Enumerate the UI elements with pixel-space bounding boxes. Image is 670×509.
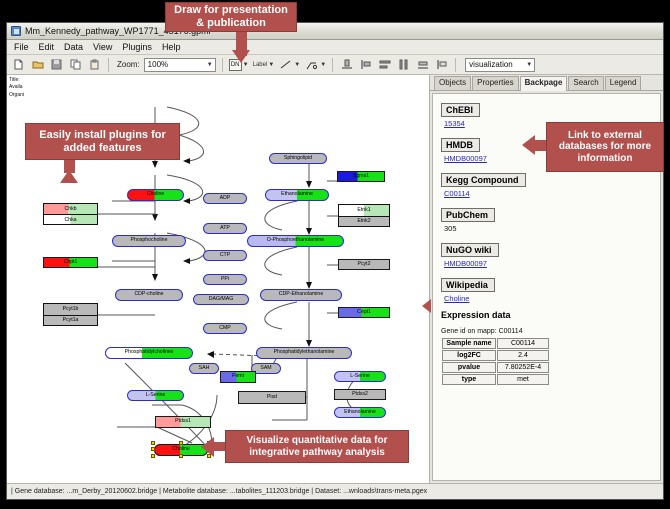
table-row: log2FC 2.4 [442, 350, 549, 361]
line-tool[interactable]: ▼ [278, 57, 300, 72]
db-header-kegg-compound: Kegg Compound [441, 173, 526, 187]
callout-link-arrow [522, 135, 535, 155]
toolbar-separator-2 [222, 58, 223, 72]
expression-table: Sample name C00114 log2FC 2.4 pvalue 7.8… [441, 337, 550, 386]
save-icon[interactable] [49, 57, 64, 72]
pathvisio-app-icon [11, 26, 21, 36]
pathway-canvas[interactable]: Title: Availa Organi [7, 75, 430, 483]
db-value-pubchem: 305 [444, 224, 654, 233]
table-row: Sample name C00114 [442, 338, 549, 349]
expr-value-type: met [497, 374, 549, 385]
callout-link: Link to external databases for more info… [546, 122, 664, 172]
db-link-kegg-compound[interactable]: C00114 [444, 189, 654, 198]
table-row: type met [442, 374, 549, 385]
node-ptdss2[interactable]: Ptdss2 [334, 389, 386, 400]
label-tool[interactable]: Label ▼ [253, 62, 275, 68]
callout-plugins-arrow [60, 170, 78, 183]
chevron-down-icon: ▼ [268, 62, 274, 68]
callout-visualize: Visualize quantitative data for integrat… [225, 430, 409, 463]
callout-draw-arrow [232, 50, 250, 63]
selection-handle-nw[interactable] [151, 441, 155, 445]
expr-value-log2fc: 2.4 [497, 350, 549, 361]
chevron-down-icon: ▼ [320, 62, 326, 68]
node-etnk1[interactable]: Etnk1 [339, 205, 389, 216]
node-sgms1[interactable]: Sgms1 [337, 171, 385, 182]
paste-icon[interactable] [87, 57, 102, 72]
db-link-wikipedia[interactable]: Choline [444, 294, 654, 303]
node-phosphatidylethanolamine[interactable]: Phosphatidylethanolamine [256, 347, 352, 359]
zoom-label: Zoom: [117, 60, 140, 69]
status-bar-text: | Gene database: ...m_Derby_20120602.bri… [11, 488, 427, 495]
menu-item-view[interactable]: View [92, 42, 113, 52]
callout-plugins: Easily install plugins for added feature… [25, 123, 180, 160]
menu-bar: File Edit Data View Plugins Help [7, 40, 663, 55]
distribute-vertical-icon[interactable] [377, 57, 392, 72]
tab-objects[interactable]: Objects [434, 76, 471, 90]
node-ethanolamine-right[interactable]: Ethanolamine [334, 407, 386, 418]
node-sah[interactable]: SAH [189, 363, 219, 374]
status-bar: | Gene database: ...m_Derby_20120602.bri… [7, 483, 663, 499]
menu-item-help[interactable]: Help [161, 42, 182, 52]
db-header-nugo-wiki: NuGO wiki [441, 243, 499, 257]
side-panel-tabs: Objects Properties Backpage Search Legen… [430, 75, 663, 91]
node-stack-etnk[interactable]: Etnk1 Etnk2 [338, 204, 390, 227]
gene-id-on-mapp: Gene id on mapp: C00114 [441, 328, 654, 335]
node-ppi[interactable]: PPi [203, 274, 247, 285]
menu-item-edit[interactable]: Edit [38, 42, 56, 52]
canvas-info-availab: Availa [9, 84, 31, 91]
tool-bar: Zoom: 100% ▼ DN ▼ Label ▼ ▼ [7, 55, 663, 75]
title-bar: Mm_Kennedy_pathway_WP1771_45176.gpml [7, 23, 663, 40]
copy-icon[interactable] [68, 57, 83, 72]
toolbar-separator-3 [332, 58, 333, 72]
node-chkb[interactable]: Chkb [44, 204, 97, 214]
expression-pointer-arrow [422, 299, 431, 313]
expr-value-sample-name: C00114 [497, 338, 549, 349]
db-link-nugo-wiki[interactable]: HMDB00097 [444, 259, 654, 268]
toolbar-separator [108, 58, 109, 72]
chevron-down-icon: ▼ [203, 62, 213, 68]
interaction-tool-icon [304, 57, 319, 72]
node-cdp-choline[interactable]: CDP-choline [115, 289, 183, 301]
node-cmp[interactable]: CMP [203, 323, 247, 334]
tab-backpage[interactable]: Backpage [520, 76, 568, 91]
tab-properties[interactable]: Properties [472, 76, 518, 90]
stack-icon[interactable] [415, 57, 430, 72]
toolbar-separator-4 [455, 58, 456, 72]
canvas-info-labels: Title: Availa Organi [9, 77, 31, 99]
node-chka[interactable]: Chka [44, 214, 97, 224]
order-icon[interactable] [434, 57, 449, 72]
expr-key-pvalue: pvalue [442, 362, 496, 373]
node-dagmag[interactable]: DAG/MAG [193, 294, 249, 305]
chevron-down-icon: ▼ [522, 62, 532, 68]
align-left-icon[interactable] [358, 57, 373, 72]
node-pcyt2[interactable]: Pcyt2 [338, 259, 390, 270]
node-ptdss1[interactable]: Ptdss1 [155, 416, 211, 428]
canvas-info-title: Title: [9, 77, 31, 84]
node-ctp[interactable]: CTP [203, 250, 247, 261]
node-pcyt1a[interactable]: Pcyt1a [44, 315, 97, 326]
callout-draw: Draw for presentation & publication [165, 2, 297, 32]
node-phosphatidylcholines[interactable]: Phosphatidylcholines [105, 347, 193, 359]
node-ethanolamine-top[interactable]: Ethanolamine [265, 189, 329, 201]
node-atp[interactable]: ATP [203, 223, 247, 234]
tab-legend[interactable]: Legend [605, 76, 642, 90]
node-sphingolipid[interactable]: Sphingolipid [269, 153, 327, 164]
chevron-down-icon: ▼ [294, 62, 300, 68]
node-chpt1[interactable]: Chpt1 [43, 257, 98, 268]
node-choline-top[interactable]: Choline [127, 189, 184, 201]
zoom-value: 100% [148, 60, 168, 69]
new-file-icon[interactable] [11, 57, 26, 72]
align-bottom-icon[interactable] [339, 57, 354, 72]
node-o-phosphoethanolamine[interactable]: O-Phosphoethanolamine [247, 235, 344, 247]
node-l-serine-left[interactable]: L-Serine [127, 390, 184, 401]
expr-key-sample-name: Sample name [442, 338, 496, 349]
menu-item-plugins[interactable]: Plugins [121, 42, 153, 52]
db-header-hmdb: HMDB [441, 138, 480, 152]
node-pisd[interactable]: Pisd [238, 391, 306, 404]
expr-value-pvalue: 7.80252E-4 [497, 362, 549, 373]
db-header-chebi: ChEBI [441, 103, 480, 117]
label-tool-label: Label [253, 62, 268, 68]
expression-data-title: Expression data [441, 310, 654, 320]
tab-search[interactable]: Search [568, 76, 603, 90]
selection-handle-s[interactable] [179, 454, 183, 458]
node-cept1[interactable]: Cept1 [338, 307, 390, 318]
canvas-info-organism: Organi [9, 92, 31, 99]
db-header-wikipedia: Wikipedia [441, 278, 495, 292]
node-stack-chkb-chka[interactable]: Chkb Chka [43, 203, 98, 225]
node-cdp-ethanolamine[interactable]: CDP-Ethanolamine [260, 289, 342, 301]
application-window: Mm_Kennedy_pathway_WP1771_45176.gpml Fil… [6, 22, 664, 500]
interaction-tool[interactable]: ▼ [304, 57, 326, 72]
selection-handle-n[interactable] [179, 441, 183, 445]
node-l-serine-right[interactable]: L-Serine [334, 371, 386, 382]
selection-handle-w[interactable] [151, 447, 155, 451]
visualization-value: visualization [469, 60, 513, 69]
line-tool-icon [278, 57, 293, 72]
distribute-horizontal-icon[interactable] [396, 57, 411, 72]
visualization-combo[interactable]: visualization ▼ [465, 58, 535, 72]
node-stack-pcyt1[interactable]: Pcyt1b Pcyt1a [43, 303, 98, 326]
expr-key-log2fc: log2FC [442, 350, 496, 361]
node-phosphocholine[interactable]: Phosphocholine [112, 235, 186, 247]
zoom-combo[interactable]: 100% ▼ [144, 58, 216, 72]
node-adp[interactable]: ADP [203, 193, 247, 204]
menu-item-file[interactable]: File [13, 42, 30, 52]
table-row: pvalue 7.80252E-4 [442, 362, 549, 373]
selection-handle-sw[interactable] [151, 454, 155, 458]
node-pemt[interactable]: Pemt [220, 371, 256, 383]
expr-key-type: type [442, 374, 496, 385]
screenshot-root: Mm_Kennedy_pathway_WP1771_45176.gpml Fil… [0, 0, 670, 509]
menu-item-data[interactable]: Data [63, 42, 84, 52]
callout-visualize-arrow [201, 437, 214, 457]
db-header-pubchem: PubChem [441, 208, 495, 222]
open-folder-icon[interactable] [30, 57, 45, 72]
node-pcyt1b[interactable]: Pcyt1b [44, 304, 97, 315]
node-etnk2[interactable]: Etnk2 [339, 216, 389, 227]
